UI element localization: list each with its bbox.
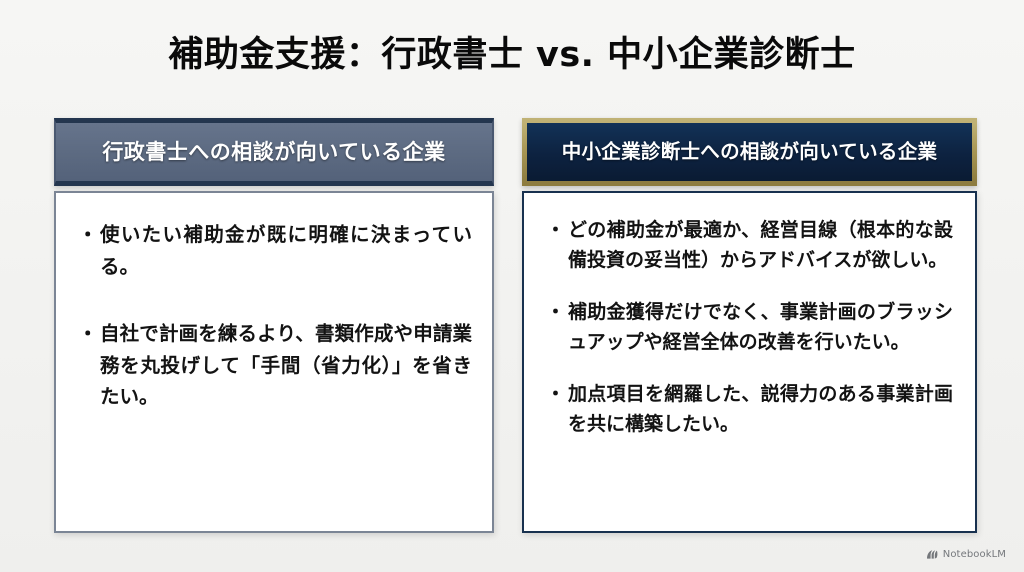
list-item: 使いたい補助金が既に明確に決まっている。 [80,219,472,282]
bullet-list-right: どの補助金が最適か、経営目線（根本的な設備投資の妥当性）からアドバイスが欲しい。… [538,211,961,439]
page-title: 補助金支援：行政書士 vs. 中小企業診断士 [0,34,1024,76]
panel-header-gyoseishoshi: 行政書士への相談が向いている企業 [54,118,494,186]
list-item: 加点項目を網羅した、説得力のある事業計画を共に構築したい。 [548,379,953,439]
panel-body-gyoseishoshi: 使いたい補助金が既に明確に決まっている。 自社で計画を練るより、書類作成や申請業… [54,191,494,533]
slide-canvas: 補助金支援：行政書士 vs. 中小企業診断士 行政書士への相談が向いている企業 … [0,0,1024,572]
comparison-panel-left: 行政書士への相談が向いている企業 使いたい補助金が既に明確に決まっている。 自社… [54,118,494,533]
notebooklm-watermark: NotebookLM [926,549,1006,560]
panel-body-shindanshi: どの補助金が最適か、経営目線（根本的な設備投資の妥当性）からアドバイスが欲しい。… [522,191,977,533]
list-item: どの補助金が最適か、経営目線（根本的な設備投資の妥当性）からアドバイスが欲しい。 [548,215,953,275]
list-item: 補助金獲得だけでなく、事業計画のブラッシュアップや経営全体の改善を行いたい。 [548,297,953,357]
notebooklm-logo-icon [926,549,938,560]
bullet-list-left: 使いたい補助金が既に明確に決まっている。 自社で計画を練るより、書類作成や申請業… [70,211,478,413]
panel-header-shindanshi: 中小企業診断士への相談が向いている企業 [522,118,977,186]
list-item: 自社で計画を練るより、書類作成や申請業務を丸投げして「手間（省力化）」を省きたい… [80,318,472,413]
comparison-panel-right: 中小企業診断士への相談が向いている企業 どの補助金が最適か、経営目線（根本的な設… [522,118,977,533]
notebooklm-label: NotebookLM [943,549,1006,560]
